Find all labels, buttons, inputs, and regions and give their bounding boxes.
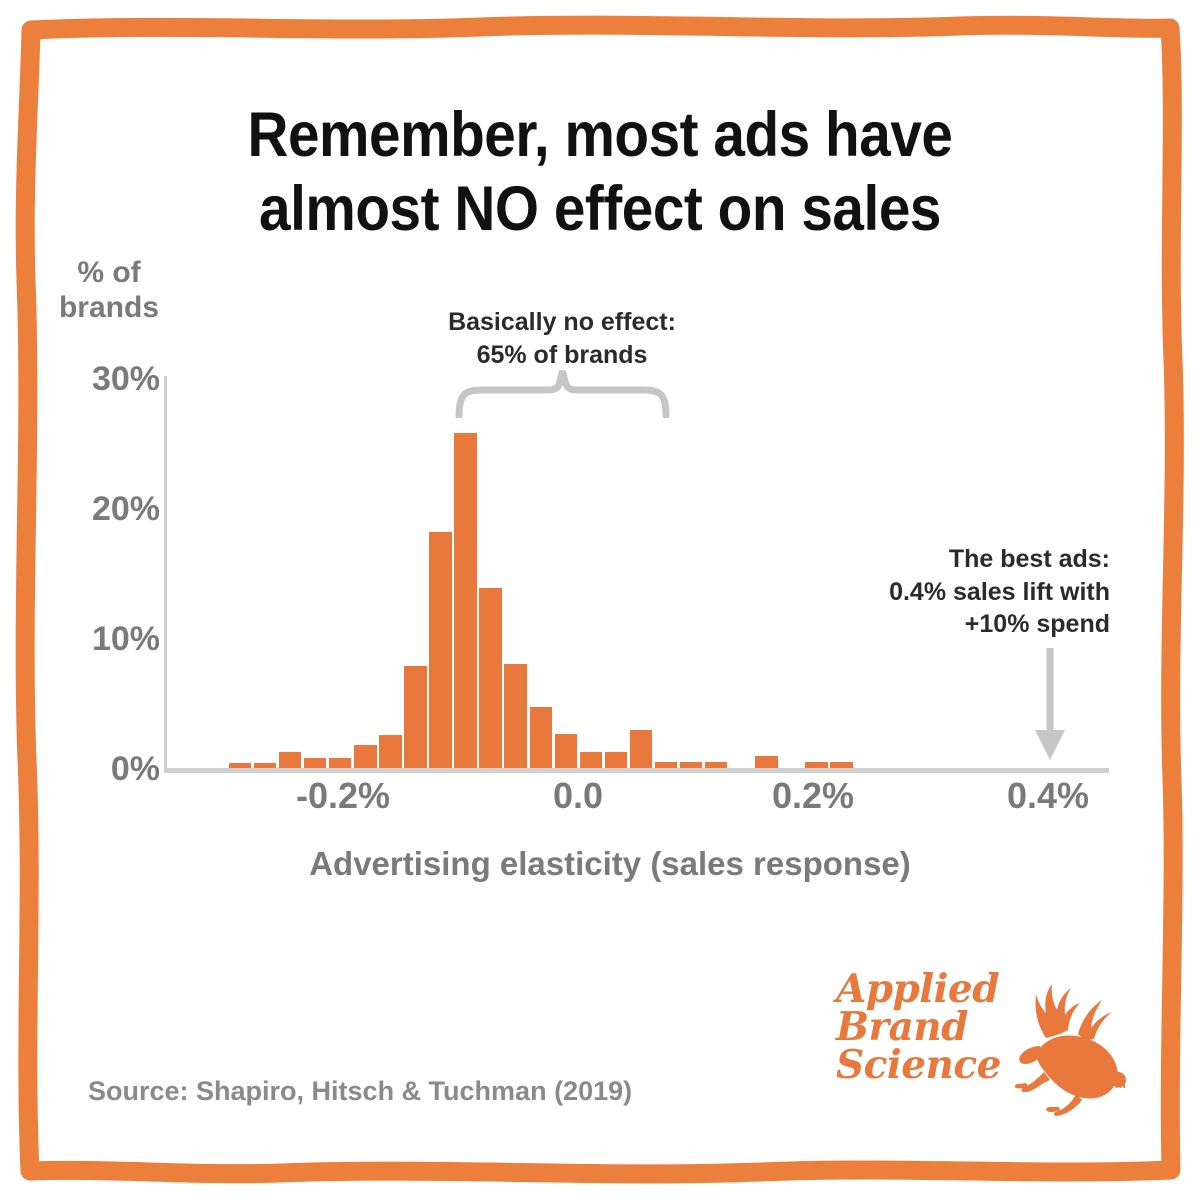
x-axis-line <box>164 768 1109 773</box>
x-tick-04: 0.4% <box>968 775 1128 817</box>
annotation-no-effect: Basically no effect: 65% of brands <box>412 306 712 371</box>
histogram-bar <box>580 752 603 768</box>
brand-logo: Applied Brand Science TM <box>836 968 1126 1118</box>
histogram-bar <box>379 735 402 768</box>
histogram-bar <box>680 762 703 768</box>
histogram-bar <box>555 734 578 768</box>
histogram-bar <box>304 758 327 768</box>
logo-wordmark: Applied Brand Science <box>836 970 1011 1085</box>
histogram-bar <box>229 763 252 768</box>
y-tick-20: 20% <box>40 490 160 529</box>
x-axis-title: Advertising elasticity (sales response) <box>170 845 1050 883</box>
histogram-bar <box>404 666 427 768</box>
x-tick-02: 0.2% <box>733 775 893 817</box>
y-tick-0: 0% <box>40 750 160 789</box>
histogram-bar <box>429 532 452 768</box>
histogram-bar <box>630 730 653 768</box>
histogram-bar <box>504 664 527 768</box>
histogram-bar <box>705 762 728 768</box>
histogram-bar <box>279 752 302 768</box>
x-tick-0: 0.0 <box>498 775 658 817</box>
histogram-bar <box>830 762 853 768</box>
source-citation: Source: Shapiro, Hitsch & Tuchman (2019) <box>88 1076 632 1107</box>
down-arrow-icon <box>1030 648 1070 763</box>
histogram-bar <box>354 745 377 768</box>
jackalope-icon <box>1004 976 1129 1116</box>
y-tick-30: 30% <box>40 360 160 399</box>
poster-canvas: Remember, most ads have almost NO effect… <box>0 0 1200 1200</box>
annotation-best-ads: The best ads: 0.4% sales lift with +10% … <box>845 543 1110 641</box>
histogram-bar <box>454 433 477 768</box>
trademark-symbol: TM <box>1107 1076 1126 1091</box>
histogram-bar <box>605 752 628 768</box>
curly-brace-icon <box>455 368 670 418</box>
histogram-bar <box>530 707 553 768</box>
y-axis-ticks: 30% 20% 10% 0% <box>20 0 160 1200</box>
x-tick-neg02: -0.2% <box>263 775 423 817</box>
histogram-bar <box>254 763 277 768</box>
histogram-bar <box>329 758 352 768</box>
histogram-bar <box>755 756 778 768</box>
y-tick-10: 10% <box>40 620 160 659</box>
histogram-bar <box>655 762 678 768</box>
histogram-bar <box>805 762 828 768</box>
histogram-bar <box>479 588 502 768</box>
